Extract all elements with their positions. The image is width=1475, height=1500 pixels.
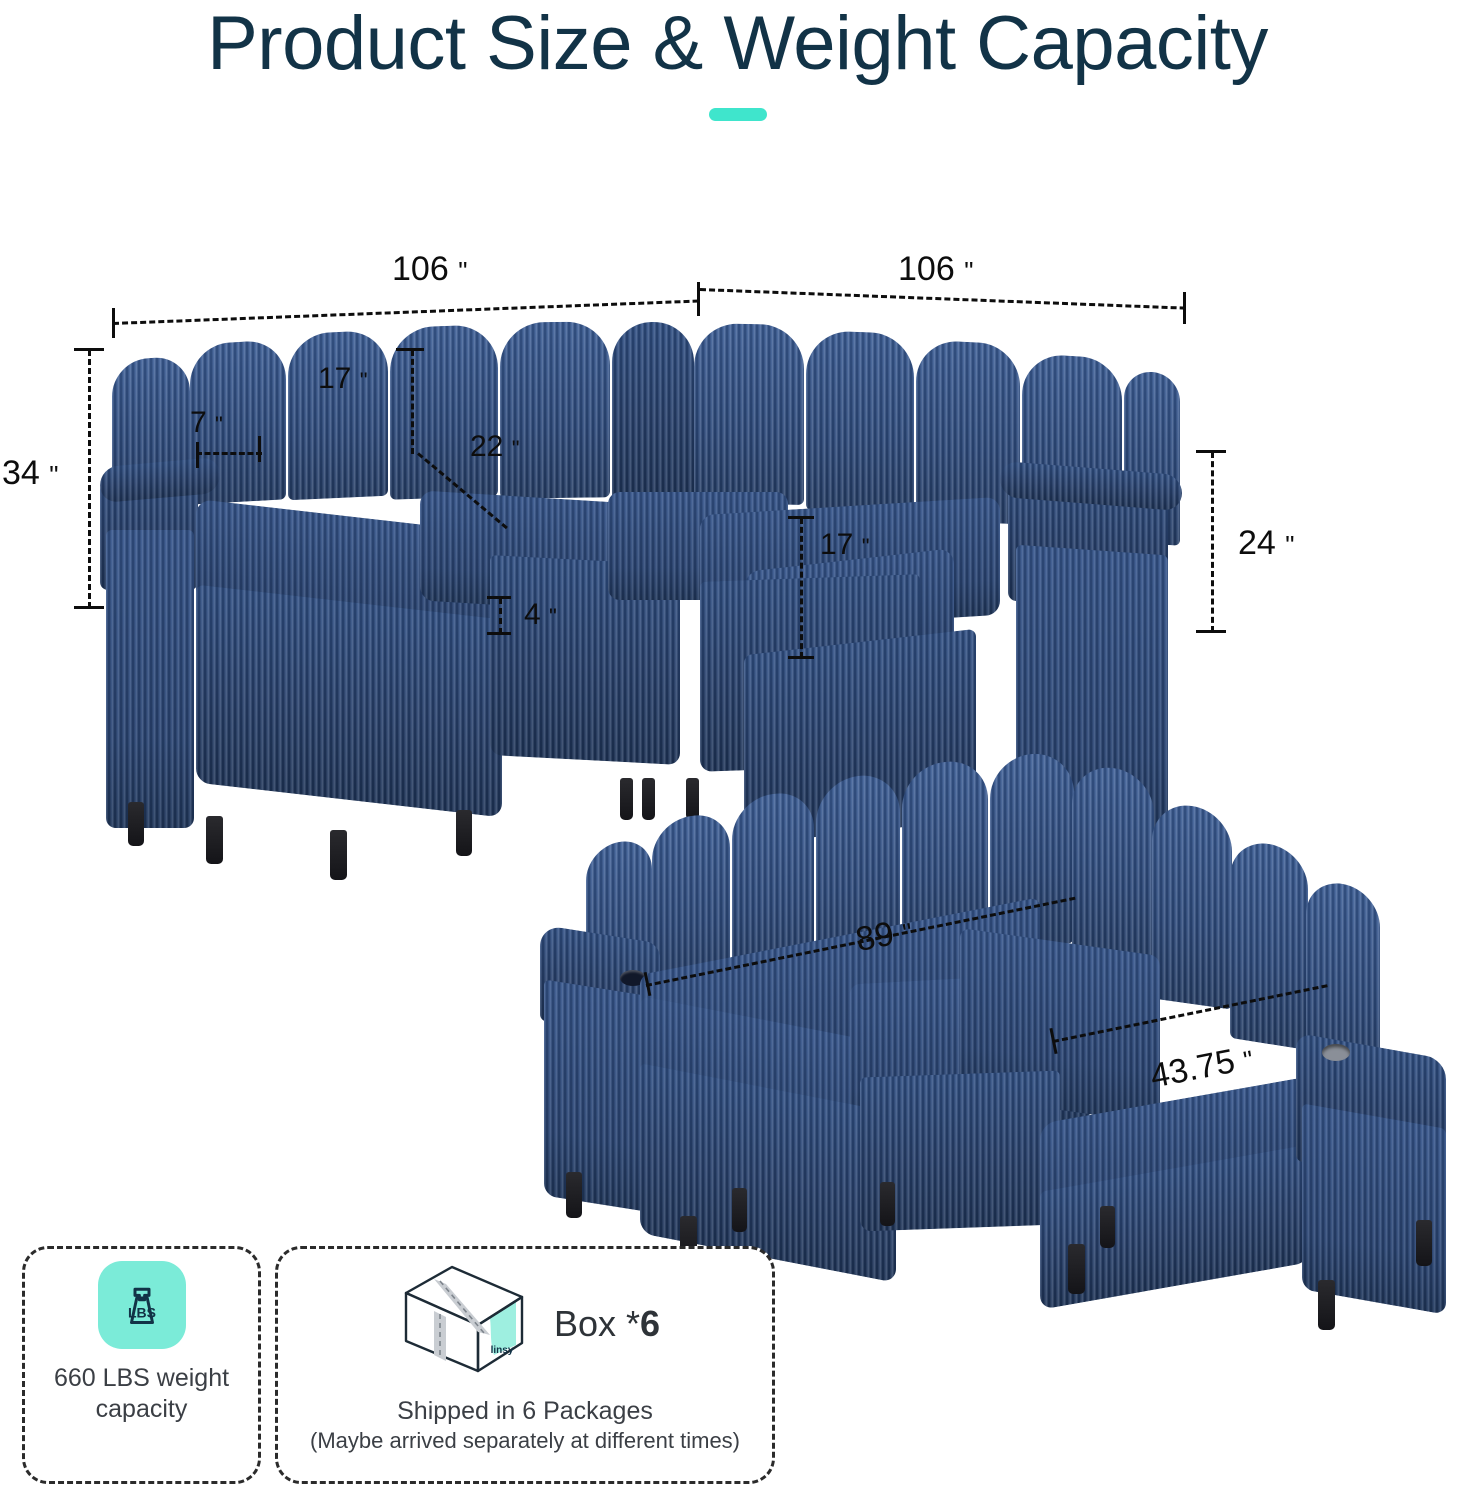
dimension-line-chaise-seat-height: [800, 518, 803, 658]
diagram-sectional-overview: 106 " 106 " 34 " 17 " 7 " 22 " 4 " 24 ": [0, 230, 1475, 700]
sofa-illustration-bottom: [0, 720, 1475, 1240]
dimension-cap: [196, 442, 199, 468]
sofa-leg: [732, 1188, 747, 1232]
weight-lbs-icon: LBS: [98, 1261, 186, 1349]
dimension-cap: [487, 596, 511, 599]
backrest-cushion: [500, 321, 610, 499]
sofa-leg: [566, 1172, 582, 1218]
dimension-cap: [112, 308, 115, 338]
page-header: Product Size & Weight Capacity: [0, 0, 1475, 150]
brand-label: linsy: [491, 1345, 514, 1356]
shipping-box-icon: linsy: [390, 1259, 538, 1388]
backrest-cushion: [694, 323, 804, 505]
corner-backrest-cushion: [612, 322, 694, 502]
armrest-left-side-sleeper: [544, 979, 652, 1212]
dimension-label-width-left: 106 ": [392, 252, 467, 288]
cup-holder-icon: [1322, 1044, 1350, 1061]
dimension-cap: [196, 452, 262, 455]
dimension-cap: [1196, 630, 1226, 633]
packages-line-2: (Maybe arrived separately at different t…: [310, 1427, 740, 1455]
dimension-cap: [1196, 450, 1226, 453]
box-count-label: Box *6: [554, 1306, 660, 1342]
sofa-illustration-top: [0, 230, 1475, 700]
dimension-label-arm-height: 24 ": [1238, 526, 1295, 562]
dimension-label-chaise-seat-height: 17 ": [820, 528, 870, 564]
page-title: Product Size & Weight Capacity: [0, 0, 1475, 92]
dimension-label-width-right: 106 ": [898, 252, 973, 288]
package-icon-row: linsy Box *6: [390, 1259, 660, 1388]
packages-line-1: Shipped in 6 Packages: [397, 1396, 653, 1427]
dimension-cap: [788, 656, 814, 659]
dimension-cap: [74, 606, 104, 609]
weight-capacity-line-1: 660 LBS weight: [54, 1363, 229, 1394]
dimension-line-overall-height: [88, 350, 91, 608]
backrest-cushion: [1152, 800, 1232, 1009]
title-accent-bar: [709, 108, 767, 121]
dimension-cap: [788, 516, 814, 519]
dimension-label-backrest-height: 17 ": [318, 362, 368, 398]
packages-card: linsy Box *6 Shipped in 6 Packages (Mayb…: [275, 1246, 775, 1484]
dimension-cap: [74, 348, 104, 351]
info-cards-row: LBS 660 LBS weight capacity: [22, 1246, 1453, 1484]
backrest-cushion: [1072, 763, 1154, 969]
backrest-cushion: [1230, 838, 1308, 1050]
dimension-line-leg-height: [499, 598, 502, 634]
dimension-cap: [1183, 292, 1186, 324]
backrest-cushion: [916, 340, 1020, 525]
diagram-sleeper-overview: 89 " 43.75 ": [0, 720, 1475, 1240]
dimension-cap: [258, 436, 261, 462]
svg-text:LBS: LBS: [128, 1304, 156, 1320]
dimension-label-leg-height: 4 ": [524, 598, 557, 634]
dimension-label-seat-depth: 22 ": [470, 430, 520, 466]
sofa-leg: [880, 1182, 895, 1226]
weight-capacity-card: LBS 660 LBS weight capacity: [22, 1246, 261, 1484]
dimension-line-backrest-height: [411, 350, 414, 454]
backrest-cushion: [288, 330, 388, 501]
dimension-line-arm-height: [1211, 452, 1214, 632]
dimension-cap: [396, 348, 424, 351]
weight-capacity-line-2: capacity: [96, 1394, 188, 1425]
dimension-cap: [487, 632, 511, 635]
dimension-label-armrest-width: 7 ": [190, 406, 223, 442]
sofa-leg: [1100, 1206, 1115, 1248]
backrest-cushion: [806, 330, 914, 513]
dimension-label-overall-height: 34 ": [2, 456, 59, 492]
